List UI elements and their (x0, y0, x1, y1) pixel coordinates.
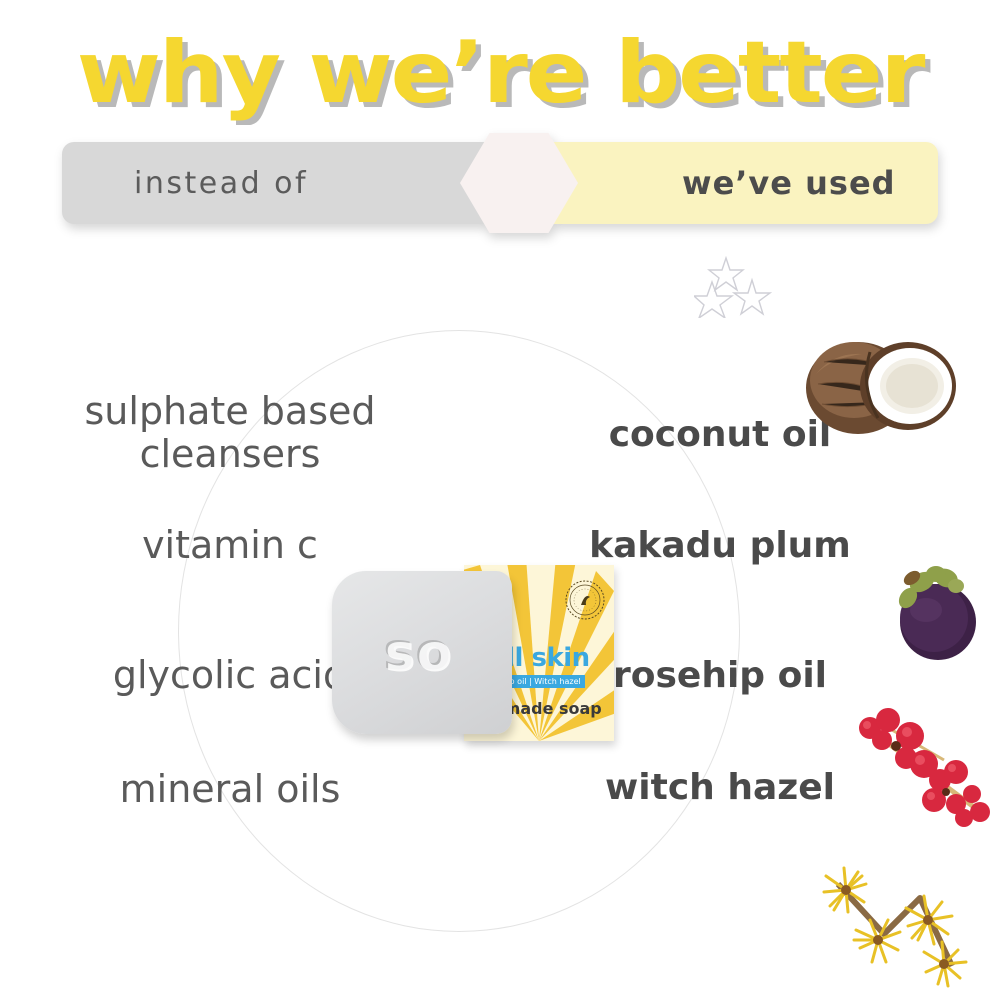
good-ingredients-column: coconut oil kakadu plum rosehip oil witc… (520, 0, 920, 1000)
rosehip-berries-photo (848, 706, 998, 828)
bad-ingredient-item: vitamin c (20, 524, 440, 567)
soap-emboss-text: so (384, 623, 453, 683)
infographic-canvas: why we’re better instead of we’ve used s… (0, 0, 1000, 1000)
good-ingredient-item: kakadu plum (520, 526, 920, 566)
kakadu-plum-photo (878, 556, 986, 664)
certification-seal-icon (564, 579, 606, 621)
product-photo: ent dull skin in | Rosehip oil | Witch h… (332, 565, 614, 745)
bad-ingredient-item: sulphate based cleansers (20, 390, 440, 475)
witch-hazel-flower-photo (812, 862, 984, 992)
bad-ingredients-column: sulphate based cleansers vitamin c glyco… (0, 0, 470, 1000)
coconut-photo (796, 322, 962, 450)
bad-ingredient-item: mineral oils (20, 768, 440, 811)
soap-bar: so (332, 571, 512, 734)
